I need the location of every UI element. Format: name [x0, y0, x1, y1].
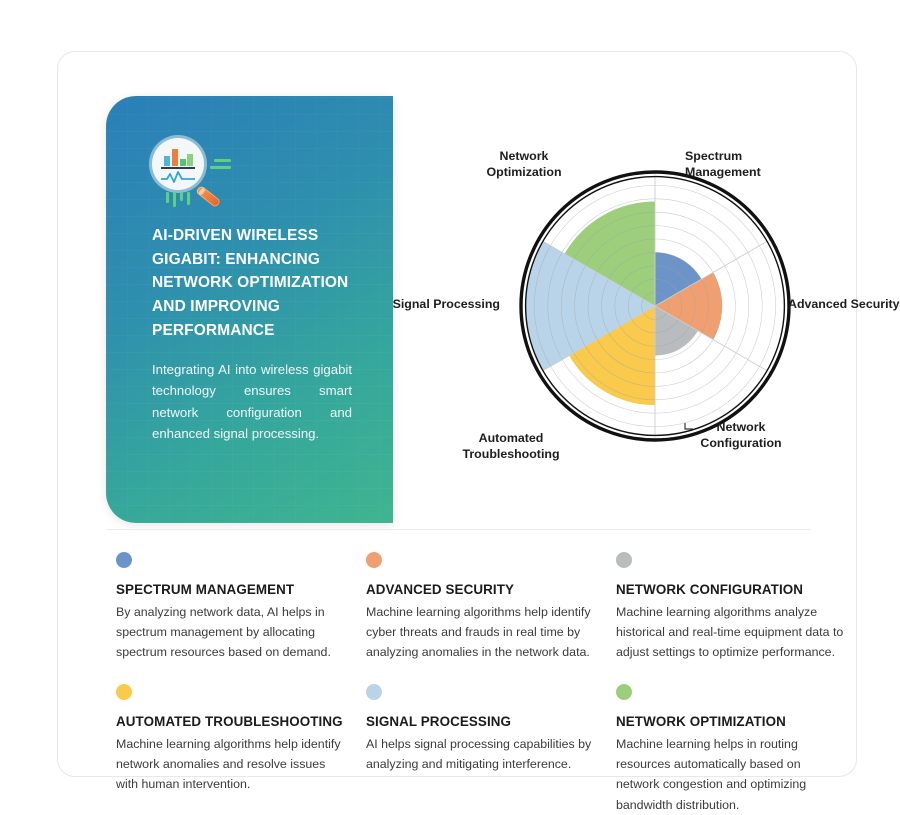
magnifier-handle-icon [195, 185, 221, 208]
legend-item: SIGNAL PROCESSINGAI helps signal process… [366, 684, 594, 814]
axis-label-automated-troubleshooting: Automated Troubleshooting [441, 430, 581, 462]
legend-item: NETWORK CONFIGURATIONMachine learning al… [616, 552, 844, 662]
legend-grid: SPECTRUM MANAGEMENTBy analyzing network … [116, 552, 806, 815]
legend-item-title: ADVANCED SECURITY [366, 582, 594, 597]
legend-item: AUTOMATED TROUBLESHOOTINGMachine learnin… [116, 684, 344, 814]
speed-line-icon [210, 166, 231, 169]
signal-bar-icon [180, 192, 183, 201]
legend-color-dot [366, 684, 382, 700]
hero-description: Integrating AI into wireless gigabit tec… [152, 359, 352, 445]
hero-title: AI-DRIVEN WIRELESS GIGABIT: ENHANCING NE… [152, 224, 363, 343]
polar-rose-chart: Spectrum Management Advanced Security Ne… [403, 96, 858, 516]
legend-item-description: AI helps signal processing capabilities … [366, 734, 594, 774]
speed-line-icon [214, 159, 231, 162]
signal-bar-icon [173, 192, 176, 207]
legend-item-title: SIGNAL PROCESSING [366, 714, 594, 729]
legend-item-description: Machine learning algorithms help identif… [366, 602, 594, 662]
legend-item-description: Machine learning algorithms analyze hist… [616, 602, 844, 662]
legend-color-dot [366, 552, 382, 568]
legend-color-dot [616, 552, 632, 568]
axis-label-advanced-security: Advanced Security [788, 296, 900, 312]
legend-color-dot [116, 684, 132, 700]
legend-item: NETWORK OPTIMIZATIONMachine learning hel… [616, 684, 844, 814]
signal-bar-icon [166, 192, 169, 203]
pulse-wave-icon [161, 171, 195, 183]
axis-label-network-configuration: Network Configuration [681, 419, 801, 451]
hero-card: AI-DRIVEN WIRELESS GIGABIT: ENHANCING NE… [106, 96, 393, 523]
legend-item-description: By analyzing network data, AI helps in s… [116, 602, 344, 662]
legend-item-description: Machine learning algorithms help identif… [116, 734, 344, 794]
legend-item-title: AUTOMATED TROUBLESHOOTING [116, 714, 344, 729]
axis-label-spectrum-management: Spectrum Management [685, 148, 805, 180]
legend-color-dot [616, 684, 632, 700]
section-divider [106, 529, 810, 530]
axis-label-signal-processing: Signal Processing [360, 296, 500, 312]
chart-baseline [161, 167, 195, 169]
legend-color-dot [116, 552, 132, 568]
legend-item-title: SPECTRUM MANAGEMENT [116, 582, 344, 597]
legend-item: SPECTRUM MANAGEMENTBy analyzing network … [116, 552, 344, 662]
legend-item-title: NETWORK CONFIGURATION [616, 582, 844, 597]
analytics-magnifier-icon [152, 138, 244, 202]
legend-item-description: Machine learning helps in routing resour… [616, 734, 844, 814]
signal-bar-icon [187, 192, 190, 205]
axis-label-network-optimization: Network Optimization [459, 148, 589, 180]
infographic-panel: AI-DRIVEN WIRELESS GIGABIT: ENHANCING NE… [57, 51, 857, 777]
legend-item: ADVANCED SECURITYMachine learning algori… [366, 552, 594, 662]
legend-item-title: NETWORK OPTIMIZATION [616, 714, 844, 729]
bar-chart-icon [163, 149, 193, 166]
